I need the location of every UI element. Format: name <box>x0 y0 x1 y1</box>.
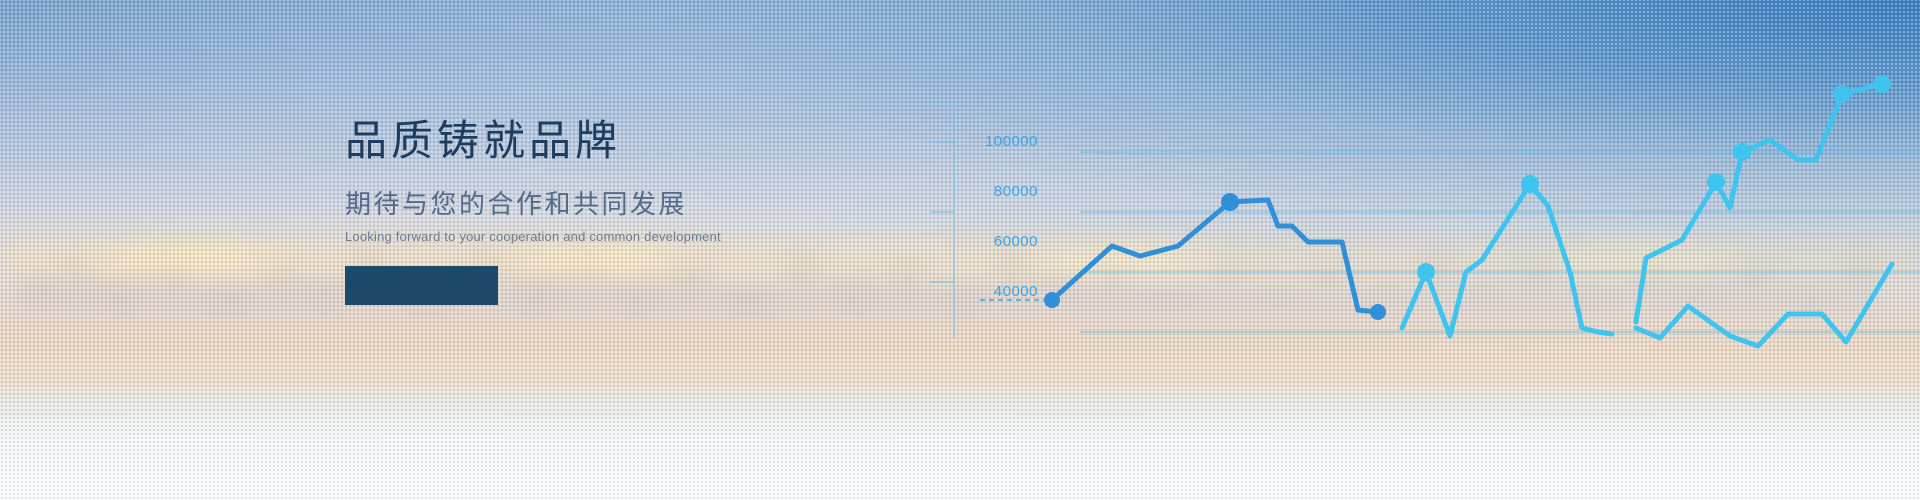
chart-axis-frame <box>930 102 954 338</box>
chart-gridlines <box>1080 152 1920 332</box>
learn-more-button[interactable] <box>345 266 498 305</box>
hero-banner: 品质铸就品牌 期待与您的合作和共同发展 Looking forward to y… <box>0 0 1920 500</box>
page-title: 品质铸就品牌 <box>345 118 985 164</box>
chart-series-3-line <box>1636 84 1882 322</box>
banner-tagline: Looking forward to your cooperation and … <box>345 229 985 244</box>
chart-series-4-line <box>1636 264 1892 346</box>
line-chart: 100000 80000 60000 40000 <box>930 60 1920 380</box>
banner-subtitle: 期待与您的合作和共同发展 <box>345 184 985 221</box>
y-axis-tick-60000: 60000 <box>994 233 1038 250</box>
chart-series-3-markers <box>1707 75 1891 191</box>
banner-copy-block: 品质铸就品牌 期待与您的合作和共同发展 Looking forward to y… <box>345 118 985 305</box>
chart-series-2-line <box>1402 184 1612 336</box>
y-axis-tick-80000: 80000 <box>994 183 1038 200</box>
y-axis-tick-40000: 40000 <box>994 283 1038 300</box>
chart-series-1-line <box>1052 200 1378 312</box>
y-axis-tick-100000: 100000 <box>985 133 1038 150</box>
